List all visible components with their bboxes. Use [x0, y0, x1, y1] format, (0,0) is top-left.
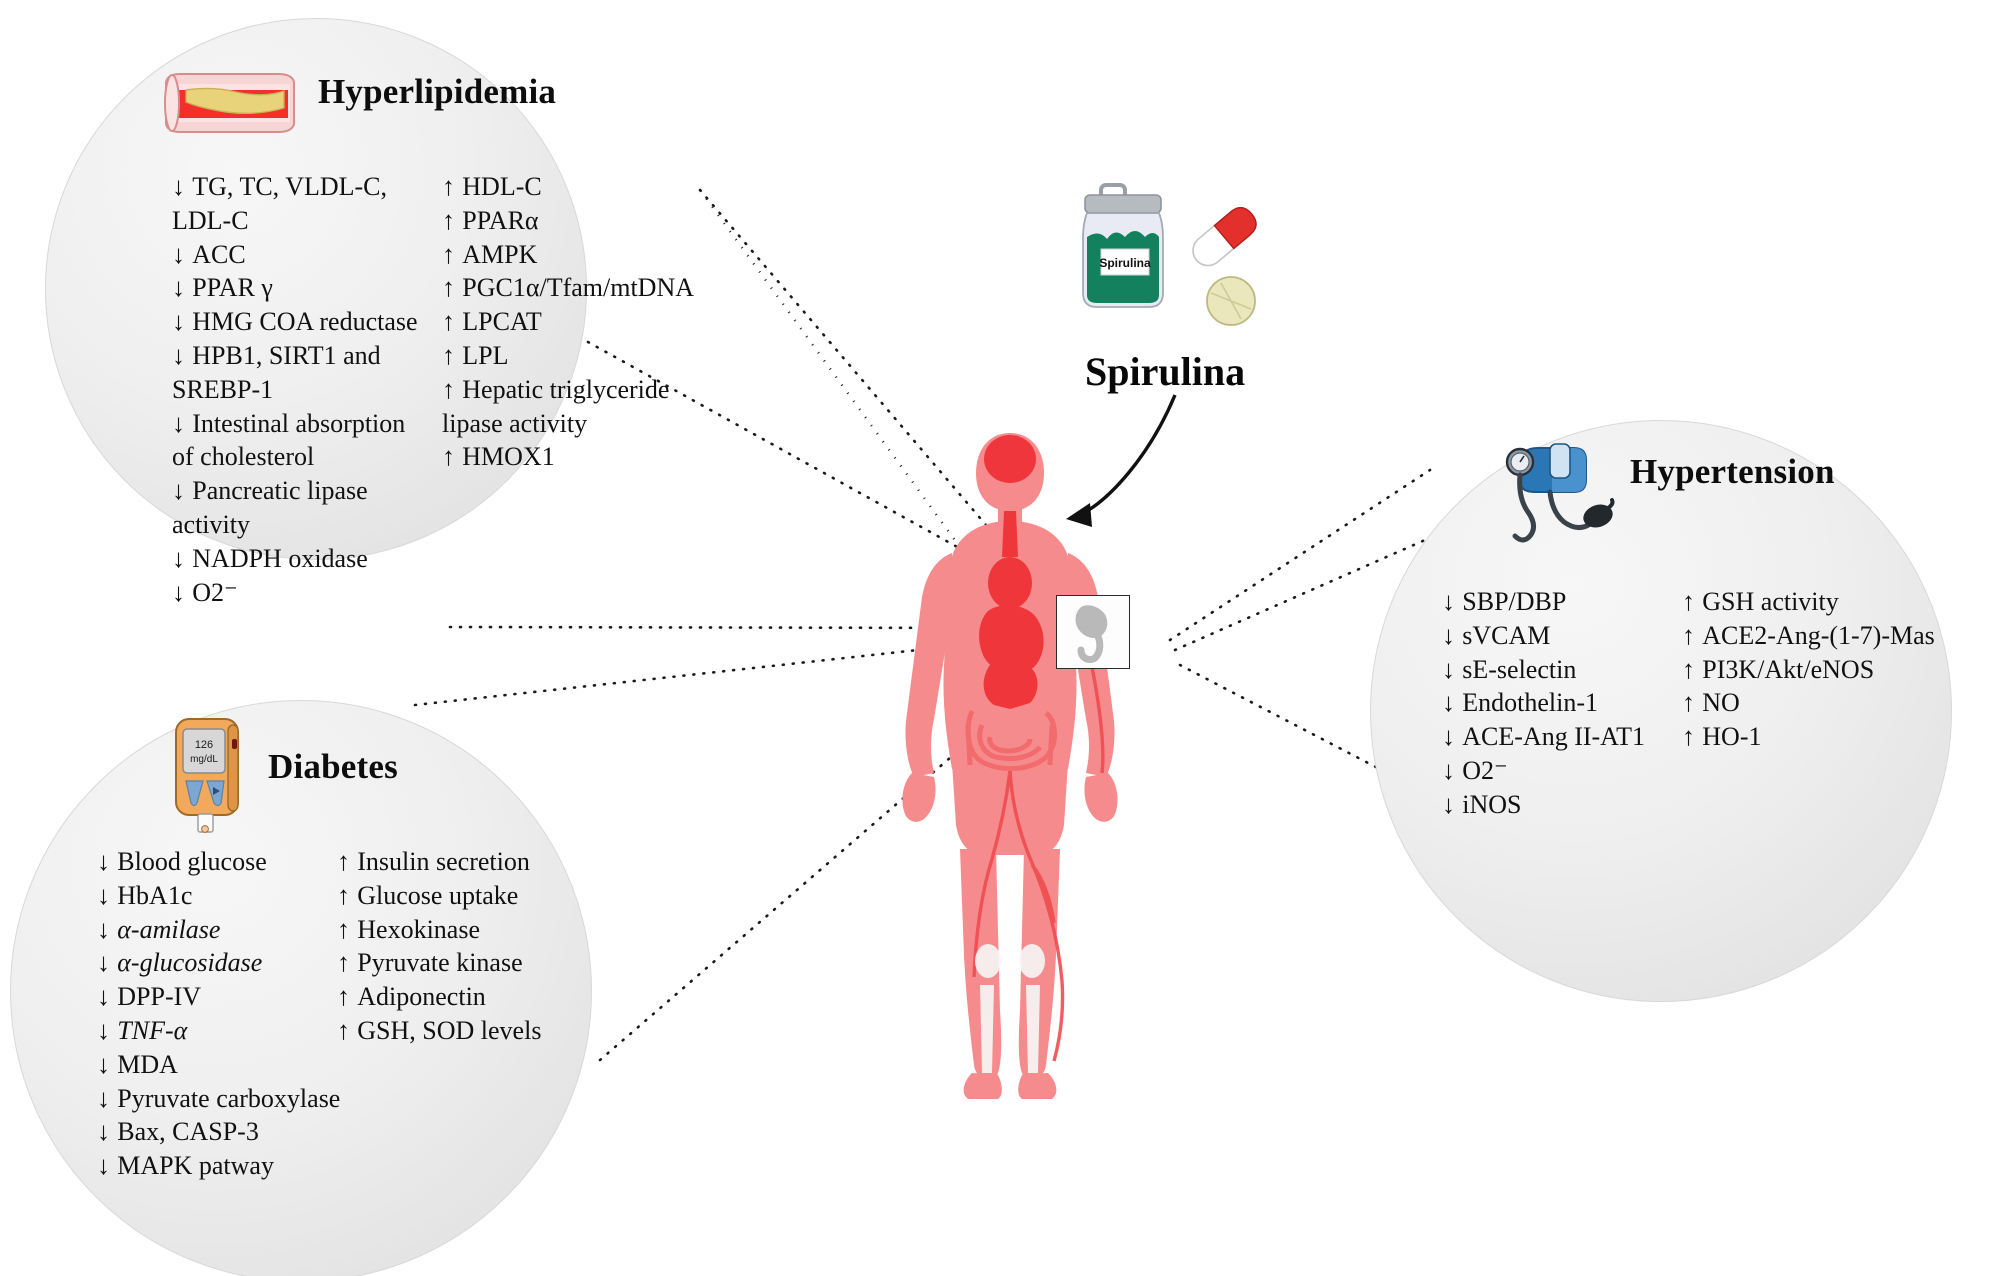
list-item: ↓HbA1c	[97, 879, 337, 913]
down-arrow-icon: ↓	[97, 1149, 117, 1183]
down-arrow-icon: ↓	[97, 1082, 117, 1116]
hypertension-increase-column: ↑GSH activity ↑ACE2-Ang-(1-7)-Mas ↑PI3K/…	[1682, 585, 1942, 822]
list-item: ↑PPARα	[442, 204, 692, 238]
up-arrow-icon: ↑	[442, 238, 462, 272]
list-item: ↓DPP-IV	[97, 980, 337, 1014]
list-item: ↑PI3K/Akt/eNOS	[1682, 653, 1942, 687]
diabetes-increase-column: ↑Insulin secretion ↑Glucose uptake ↑Hexo…	[337, 845, 577, 1183]
list-item: ↑HDL-C	[442, 170, 692, 204]
down-arrow-icon: ↓	[97, 1048, 117, 1082]
human-anatomy-figure	[860, 425, 1160, 1105]
down-arrow-icon: ↓	[172, 339, 192, 373]
list-item: ↓Pancreatic lipase	[172, 474, 442, 508]
list-item: ↑Glucose uptake	[337, 879, 577, 913]
diabetes-decrease-column: ↓Blood glucose ↓HbA1c ↓α-amilase ↓α-gluc…	[97, 845, 337, 1183]
list-item: ↓MAPK patway	[97, 1149, 337, 1183]
list-item: ↑ACE2-Ang-(1-7)-Mas	[1682, 619, 1942, 653]
up-arrow-icon: ↑	[1682, 720, 1702, 754]
up-arrow-icon: ↑	[442, 204, 462, 238]
list-item: ↓TG, TC, VLDL-C,	[172, 170, 442, 204]
list-item: ↓MDA	[97, 1048, 337, 1082]
glucometer-value: 126	[195, 739, 213, 751]
list-item: ↑Adiponectin	[337, 980, 577, 1014]
up-arrow-icon: ↑	[442, 305, 462, 339]
list-item: ↓sE-selectin	[1442, 653, 1682, 687]
artery-plaque-icon	[160, 68, 300, 138]
organ-glyph-icon	[1057, 596, 1129, 668]
up-arrow-icon: ↑	[1682, 686, 1702, 720]
hyperlipidemia-increase-column: ↑HDL-C ↑PPARα ↑AMPK ↑PGC1α/Tfam/mtDNA ↑L…	[442, 170, 692, 609]
list-item: ↑HO-1	[1682, 720, 1942, 754]
list-item: ↓SBP/DBP	[1442, 585, 1682, 619]
hypertension-marker-lists: ↓SBP/DBP ↓sVCAM ↓sE-selectin ↓Endothelin…	[1442, 585, 1942, 822]
list-item: ↓HPB1, SIRT1 and	[172, 339, 442, 373]
up-arrow-icon: ↑	[337, 980, 357, 1014]
bottle-label: Spirulina	[1099, 256, 1151, 270]
up-arrow-icon: ↑	[337, 946, 357, 980]
list-item: ↑AMPK	[442, 238, 692, 272]
list-item: ↓α-amilase	[97, 913, 337, 947]
down-arrow-icon: ↓	[1442, 619, 1462, 653]
down-arrow-icon: ↓	[97, 879, 117, 913]
down-arrow-icon: ↓	[97, 946, 117, 980]
torso-highlight-box[interactable]	[1056, 595, 1130, 669]
list-item: ↑Hexokinase	[337, 913, 577, 947]
panel-title-diabetes: Diabetes	[268, 747, 398, 787]
down-arrow-icon: ↓	[172, 542, 192, 576]
blood-pressure-monitor-icon	[1490, 440, 1615, 560]
list-item: SREBP-1	[172, 373, 442, 407]
list-item: ↑PGC1α/Tfam/mtDNA	[442, 271, 692, 305]
down-arrow-icon: ↓	[97, 1115, 117, 1149]
list-item: activity	[172, 508, 442, 542]
down-arrow-icon: ↓	[97, 845, 117, 879]
list-item: ↓O2⁻	[172, 576, 442, 610]
figure-canvas: Hyperlipidemia ↓TG, TC, VLDL-C, LDL-C ↓A…	[0, 0, 2000, 1276]
up-arrow-icon: ↑	[337, 1014, 357, 1048]
list-item: ↓iNOS	[1442, 788, 1682, 822]
up-arrow-icon: ↑	[1682, 619, 1702, 653]
spirulina-label: Spirulina	[1085, 348, 1245, 395]
down-arrow-icon: ↓	[1442, 720, 1462, 754]
list-item: ↓Pyruvate carboxylase	[97, 1082, 337, 1116]
down-arrow-icon: ↓	[172, 474, 192, 508]
list-item: ↑Pyruvate kinase	[337, 946, 577, 980]
list-item: ↑Insulin secretion	[337, 845, 577, 879]
list-item: ↑GSH, SOD levels	[337, 1014, 577, 1048]
down-arrow-icon: ↓	[172, 407, 192, 441]
list-item: ↑LPCAT	[442, 305, 692, 339]
up-arrow-icon: ↑	[442, 170, 462, 204]
list-item: lipase activity	[442, 407, 692, 441]
list-item: ↓TNF-α	[97, 1014, 337, 1048]
up-arrow-icon: ↑	[337, 879, 357, 913]
list-item: ↓NADPH oxidase	[172, 542, 442, 576]
list-item: ↓Endothelin-1	[1442, 686, 1682, 720]
up-arrow-icon: ↑	[1682, 585, 1702, 619]
panel-title-hypertension: Hypertension	[1630, 452, 1835, 492]
list-item: ↓O2⁻	[1442, 754, 1682, 788]
down-arrow-icon: ↓	[1442, 788, 1462, 822]
glucometer-unit: mg/dL	[190, 754, 218, 765]
list-item: ↑NO	[1682, 686, 1942, 720]
down-arrow-icon: ↓	[1442, 653, 1462, 687]
list-item: ↓HMG COA reductase	[172, 305, 442, 339]
panel-title-hyperlipidemia: Hyperlipidemia	[318, 72, 556, 112]
list-item: ↓ACE-Ang II-AT1	[1442, 720, 1682, 754]
up-arrow-icon: ↑	[442, 271, 462, 305]
diabetes-marker-lists: ↓Blood glucose ↓HbA1c ↓α-amilase ↓α-gluc…	[97, 845, 577, 1183]
list-item: of cholesterol	[172, 440, 442, 474]
up-arrow-icon: ↑	[442, 339, 462, 373]
up-arrow-icon: ↑	[442, 440, 462, 474]
hyperlipidemia-marker-lists: ↓TG, TC, VLDL-C, LDL-C ↓ACC ↓PPAR γ ↓HMG…	[172, 170, 692, 609]
down-arrow-icon: ↓	[97, 913, 117, 947]
down-arrow-icon: ↓	[1442, 585, 1462, 619]
list-item: ↓sVCAM	[1442, 619, 1682, 653]
list-item: ↓α-glucosidase	[97, 946, 337, 980]
down-arrow-icon: ↓	[1442, 754, 1462, 788]
list-item: ↓Intestinal absorption	[172, 407, 442, 441]
down-arrow-icon: ↓	[172, 305, 192, 339]
down-arrow-icon: ↓	[172, 170, 192, 204]
up-arrow-icon: ↑	[337, 845, 357, 879]
list-item: LDL-C	[172, 204, 442, 238]
spirulina-bottle-icon: Spirulina	[1075, 175, 1290, 340]
down-arrow-icon: ↓	[172, 238, 192, 272]
list-item: ↓Bax, CASP-3	[97, 1115, 337, 1149]
list-item: ↑LPL	[442, 339, 692, 373]
up-arrow-icon: ↑	[1682, 653, 1702, 687]
down-arrow-icon: ↓	[1442, 686, 1462, 720]
hypertension-decrease-column: ↓SBP/DBP ↓sVCAM ↓sE-selectin ↓Endothelin…	[1442, 585, 1682, 822]
list-item: ↓Blood glucose	[97, 845, 337, 879]
list-item: ↑Hepatic triglyceride	[442, 373, 692, 407]
down-arrow-icon: ↓	[97, 1014, 117, 1048]
down-arrow-icon: ↓	[97, 980, 117, 1014]
hyperlipidemia-decrease-column: ↓TG, TC, VLDL-C, LDL-C ↓ACC ↓PPAR γ ↓HMG…	[172, 170, 442, 609]
list-item: ↓ACC	[172, 238, 442, 272]
list-item: ↓PPAR γ	[172, 271, 442, 305]
glucometer-icon: 126 mg/dL	[170, 715, 250, 840]
list-item: ↑GSH activity	[1682, 585, 1942, 619]
down-arrow-icon: ↓	[172, 576, 192, 610]
down-arrow-icon: ↓	[172, 271, 192, 305]
up-arrow-icon: ↑	[337, 913, 357, 947]
up-arrow-icon: ↑	[442, 373, 462, 407]
list-item: ↑HMOX1	[442, 440, 692, 474]
